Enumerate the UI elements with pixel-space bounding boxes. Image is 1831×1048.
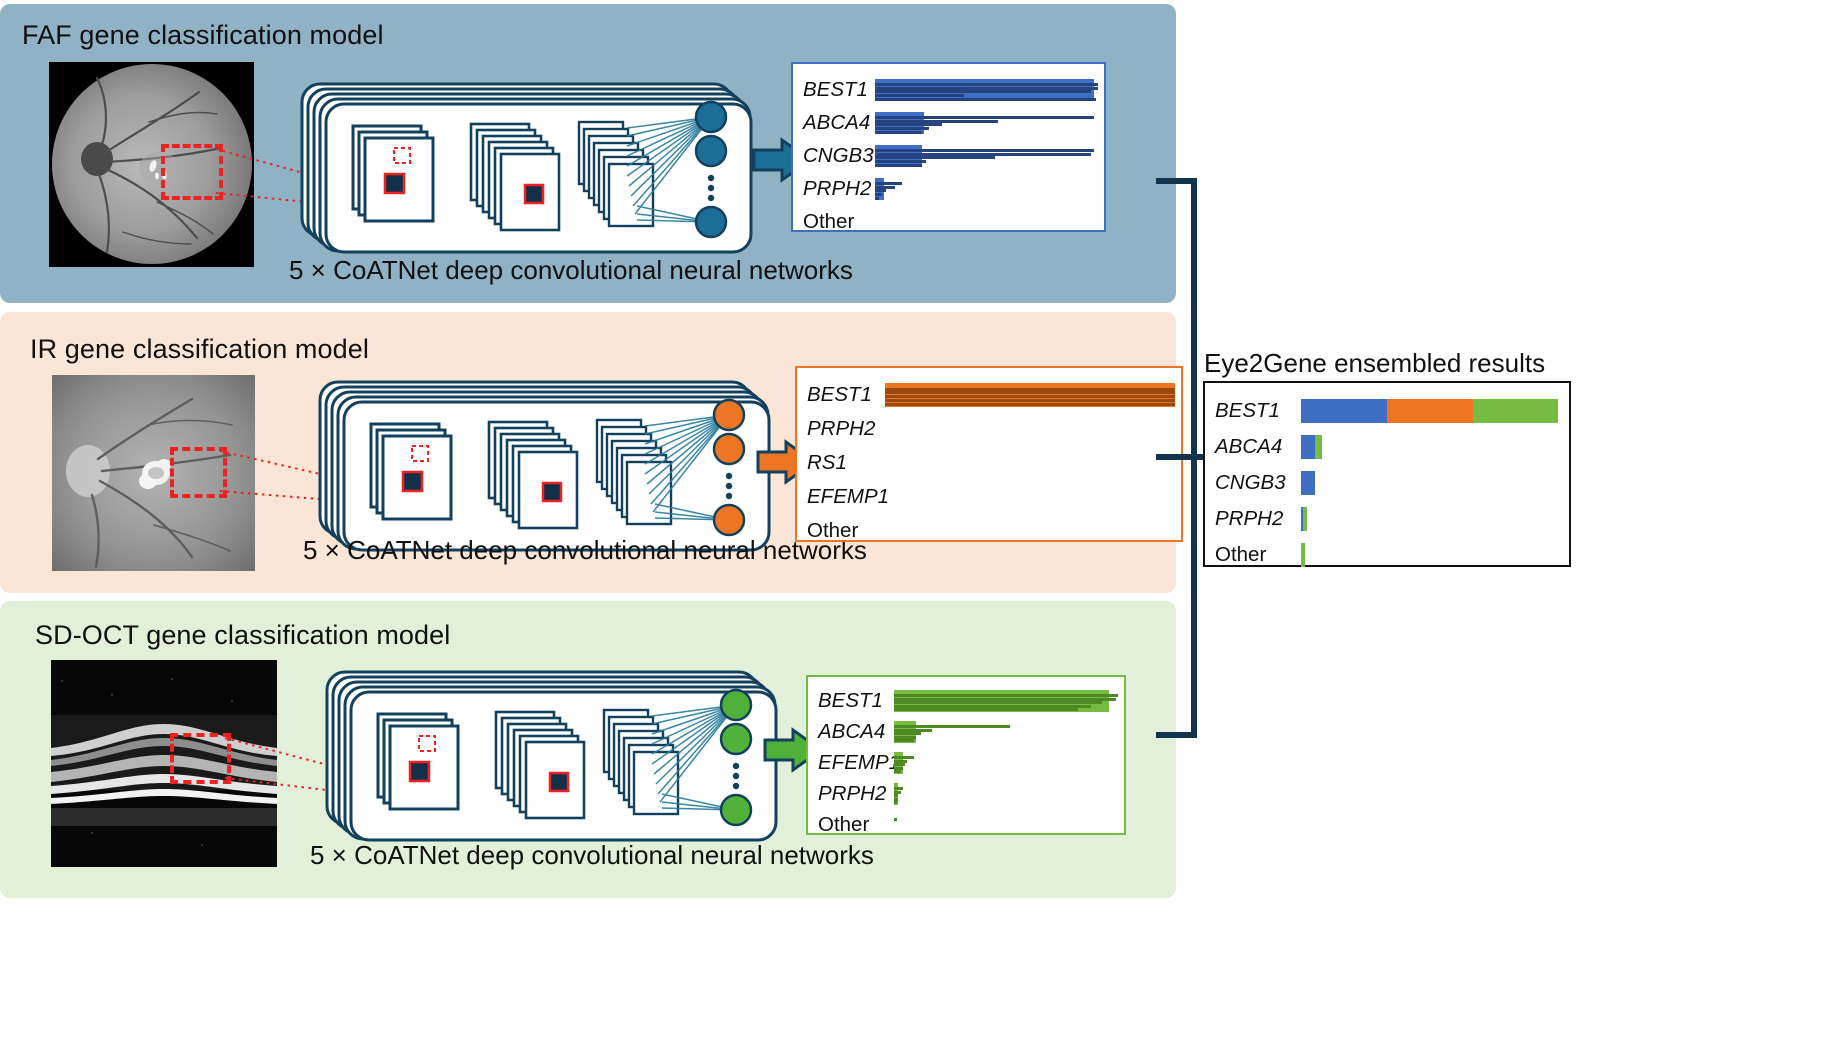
model-prediction-line — [894, 770, 901, 773]
ensemble-results-chart: BEST1ABCA4CNGB3PRPH2Other — [1203, 381, 1571, 567]
model-prediction-line — [894, 698, 1116, 701]
model-prediction-line — [875, 160, 926, 163]
model-prediction-line — [885, 395, 1175, 398]
ensemble-bar-segment — [1301, 543, 1305, 567]
faf-probability-chart: BEST1ABCA4CNGB3PRPH2Other — [791, 62, 1106, 232]
ensemble-title: Eye2Gene ensembled results — [1204, 348, 1545, 379]
model-prediction-line — [875, 153, 1091, 156]
ir-cnn-diagram — [315, 378, 775, 553]
model-prediction-line — [894, 701, 1102, 704]
gene-label: PRPH2 — [1215, 507, 1283, 531]
gene-label: PRPH2 — [807, 417, 875, 441]
model-prediction-line — [875, 123, 942, 126]
oct-panel-title: SD-OCT gene classification model — [35, 620, 450, 651]
model-prediction-line — [875, 131, 922, 134]
gene-label: Other — [1215, 543, 1266, 567]
model-prediction-line — [894, 736, 916, 739]
model-prediction-line — [885, 399, 1175, 402]
gene-label: BEST1 — [803, 78, 868, 102]
gene-label: CNGB3 — [803, 144, 874, 168]
ensemble-bar-segment — [1387, 399, 1473, 423]
ensemble-bar-segment — [1315, 435, 1322, 459]
ensemble-bar-segment — [1301, 399, 1387, 423]
gene-label: ABCA4 — [1215, 435, 1282, 459]
gene-label: ABCA4 — [803, 111, 870, 135]
model-prediction-line — [894, 694, 1118, 697]
gene-label: EFEMP1 — [807, 485, 889, 509]
faf-cnn-caption: 5 × CoATNet deep convolutional neural ne… — [289, 255, 853, 286]
gene-label: BEST1 — [818, 689, 883, 713]
model-prediction-line — [875, 189, 886, 192]
model-prediction-line — [875, 149, 1094, 152]
gene-label: RS1 — [807, 451, 847, 475]
model-prediction-line — [875, 182, 902, 185]
model-prediction-line — [894, 725, 1010, 728]
gene-label: Other — [807, 519, 858, 543]
model-prediction-line — [875, 127, 929, 130]
model-prediction-line — [894, 801, 897, 804]
model-prediction-line — [875, 83, 1098, 86]
model-prediction-line — [894, 763, 905, 766]
ir-panel-title: IR gene classification model — [30, 334, 369, 365]
gene-label: CNGB3 — [1215, 471, 1286, 495]
oct-cnn-caption: 5 × CoATNet deep convolutional neural ne… — [310, 840, 874, 871]
faf-panel-title: FAF gene classification model — [22, 20, 384, 51]
model-prediction-line — [894, 732, 921, 735]
gene-label: ABCA4 — [818, 720, 885, 744]
model-prediction-line — [894, 705, 1091, 708]
model-prediction-line — [875, 120, 998, 123]
model-prediction-line — [894, 791, 901, 794]
model-prediction-line — [875, 156, 995, 159]
model-prediction-line — [894, 798, 898, 801]
model-prediction-line — [875, 186, 895, 189]
model-prediction-line — [885, 391, 1175, 394]
model-prediction-line — [894, 787, 903, 790]
model-prediction-line — [894, 756, 914, 759]
model-prediction-line — [875, 116, 1094, 119]
model-prediction-line — [894, 708, 1078, 711]
model-prediction-line — [885, 403, 1175, 406]
model-prediction-line — [894, 818, 897, 821]
ensemble-bar-segment — [1301, 471, 1315, 495]
model-prediction-line — [875, 197, 879, 200]
ir-cnn-caption: 5 × CoATNet deep convolutional neural ne… — [303, 535, 867, 566]
oct-probability-chart: BEST1ABCA4EFEMP1PRPH2Other — [806, 675, 1126, 835]
oct-cnn-diagram — [322, 668, 782, 843]
model-prediction-line — [875, 94, 964, 97]
model-prediction-line — [894, 794, 898, 797]
gene-label: Other — [803, 210, 854, 234]
model-prediction-line — [875, 87, 1098, 90]
model-prediction-line — [885, 388, 1175, 391]
ensemble-bar-segment — [1473, 399, 1559, 423]
ensemble-bar-segment — [1301, 435, 1315, 459]
gene-label: Other — [818, 813, 869, 837]
ensemble-bar-segment — [1303, 507, 1307, 531]
gene-label: EFEMP1 — [818, 751, 900, 775]
gene-label: PRPH2 — [803, 177, 871, 201]
model-prediction-line — [875, 98, 1096, 101]
ir-probability-chart: BEST1PRPH2RS1EFEMP1Other — [795, 366, 1183, 542]
gene-label: BEST1 — [1215, 399, 1280, 423]
model-prediction-line — [875, 193, 882, 196]
model-prediction-line — [894, 760, 907, 763]
faf-cnn-diagram — [297, 80, 757, 255]
gene-label: PRPH2 — [818, 782, 886, 806]
model-prediction-line — [894, 729, 932, 732]
gene-label: BEST1 — [807, 383, 872, 407]
model-prediction-line — [894, 767, 903, 770]
model-prediction-line — [875, 164, 922, 167]
model-prediction-line — [875, 90, 1091, 93]
model-prediction-line — [894, 739, 914, 742]
